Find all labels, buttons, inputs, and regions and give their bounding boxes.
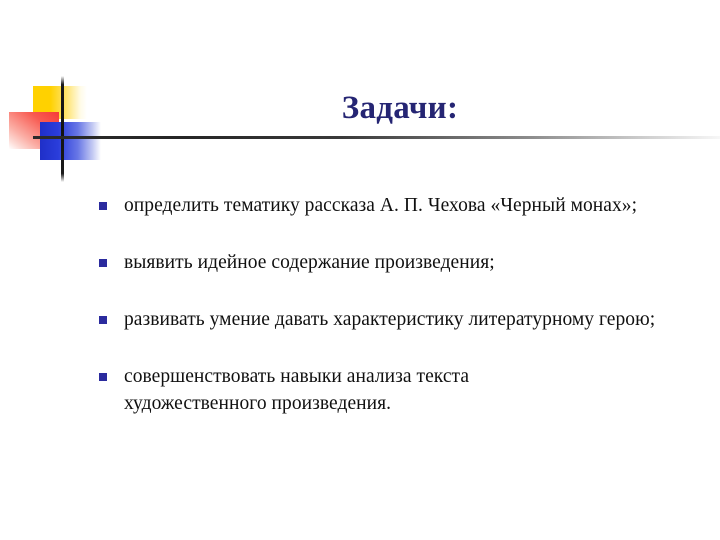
list-item-label: выявить идейное содержание произведения; (124, 249, 699, 276)
red-square-decoration (9, 112, 59, 149)
list-item-label: определить тематику рассказа А. П. Чехов… (124, 192, 699, 219)
square-bullet-icon (99, 202, 107, 210)
list-item: определить тематику рассказа А. П. Чехов… (99, 192, 699, 219)
presentation-slide: Задачи: определить тематику рассказа А. … (0, 0, 720, 540)
list-item-label: развивать умение давать характеристику л… (124, 306, 699, 333)
list-item-label: совершенствовать навыки анализа текста х… (124, 363, 544, 417)
vertical-rule-decoration (61, 76, 64, 182)
yellow-square-decoration (33, 86, 87, 119)
square-bullet-icon (99, 316, 107, 324)
blue-square-decoration (40, 122, 101, 160)
bullet-list: определить тематику рассказа А. П. Чехов… (99, 192, 699, 417)
list-item: выявить идейное содержание произведения; (99, 249, 699, 276)
list-item: совершенствовать навыки анализа текста х… (99, 363, 699, 417)
list-item: развивать умение давать характеристику л… (99, 306, 699, 333)
slide-title: Задачи: (120, 88, 680, 128)
horizontal-rule-divider (33, 136, 720, 139)
square-bullet-icon (99, 373, 107, 381)
square-bullet-icon (99, 259, 107, 267)
